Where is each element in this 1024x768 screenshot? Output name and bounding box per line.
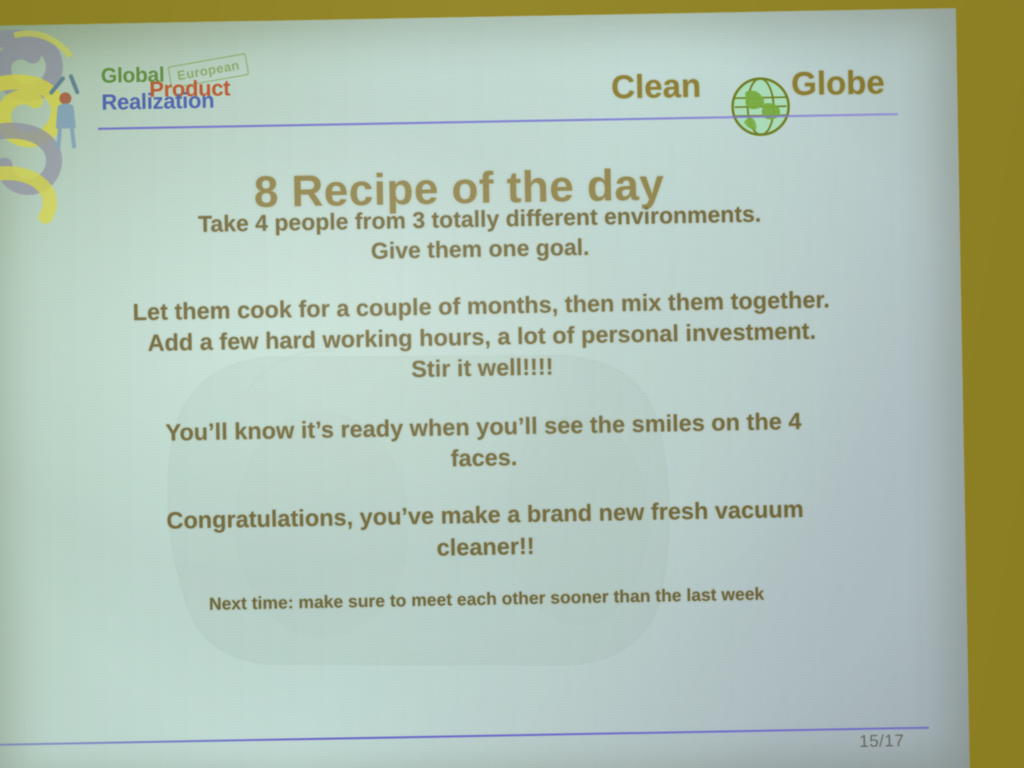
- projected-slide-photo: Global European Product Realization Clea…: [0, 0, 1024, 768]
- globe-icon: [727, 73, 794, 140]
- paragraph-2-line-2: Add a few hard working hours, a lot of p…: [147, 317, 816, 355]
- paragraph-3-line-2: faces.: [450, 444, 517, 471]
- logo-line-realization: Realization: [101, 90, 214, 114]
- paragraph-4-line-2: cleaner!!: [436, 532, 534, 560]
- paragraph-2: Let them cook for a couple of months, th…: [31, 282, 933, 392]
- paragraph-1-line-2: Give them one goal.: [371, 234, 590, 264]
- paragraph-3-line-1: You’ll know it’s ready when you’ll see t…: [165, 408, 801, 446]
- page-number: 15/17: [859, 731, 904, 752]
- projection-screen: Global European Product Realization Clea…: [0, 8, 970, 768]
- paragraph-3: You’ll know it’s ready when you’ll see t…: [33, 403, 934, 482]
- gpr-logo: Global European Product Realization: [101, 61, 362, 126]
- paragraph-4-line-1: Congratulations, you’ve make a brand new…: [166, 496, 804, 534]
- footer-divider: [0, 727, 929, 746]
- slide-body: Take 4 people from 3 totally different e…: [29, 197, 936, 618]
- paragraph-2-line-3: Stir it well!!!!: [411, 353, 554, 382]
- paragraph-4: Congratulations, you’ve make a brand new…: [35, 492, 936, 571]
- ribbon-artwork: [0, 26, 102, 228]
- footer-note: Next time: make sure to meet each other …: [36, 580, 936, 617]
- header-word-globe: Globe: [791, 63, 885, 103]
- slide-content: Global European Product Realization Clea…: [0, 8, 970, 768]
- header-word-clean: Clean: [611, 67, 702, 107]
